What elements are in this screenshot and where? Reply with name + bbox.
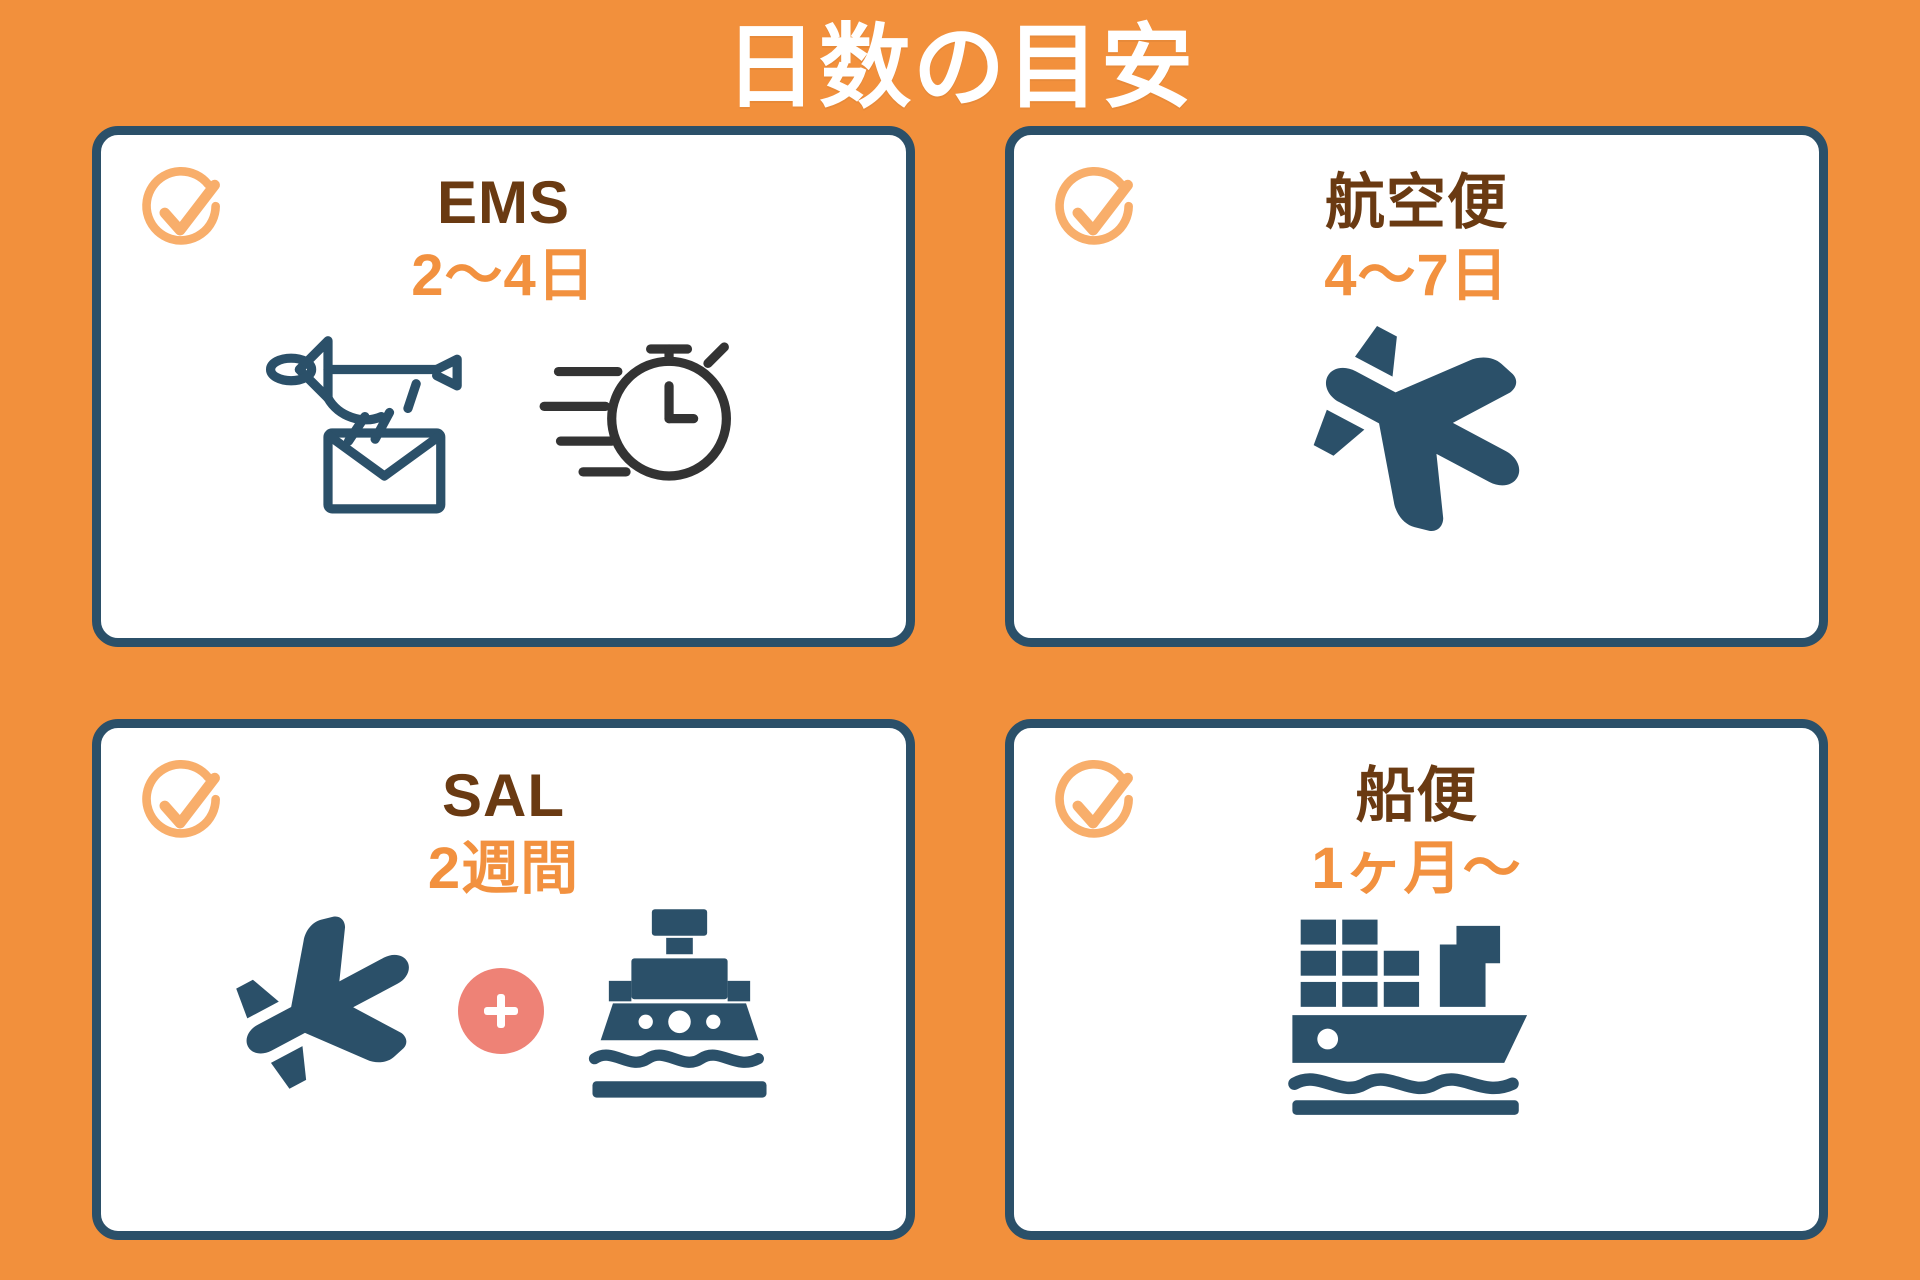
check-circle-icon — [1048, 163, 1144, 259]
airplane-solid-icon — [1292, 314, 1542, 544]
airplane-mail-line-icon — [254, 310, 484, 520]
infographic-page: 日数の目安 EMS 2〜4日 — [0, 0, 1920, 1280]
check-circle-icon — [1048, 756, 1144, 852]
cards-grid: EMS 2〜4日 — [0, 112, 1920, 1280]
stopwatch-speed-icon — [538, 320, 753, 510]
check-circle-icon — [135, 163, 231, 259]
check-circle-icon — [135, 756, 231, 852]
card-airmail[interactable]: 航空便 4〜7日 — [1005, 126, 1828, 647]
plus-badge-icon — [458, 968, 544, 1054]
card-illustration — [101, 310, 906, 520]
page-title: 日数の目安 — [0, 0, 1920, 112]
card-illustration — [1014, 907, 1819, 1120]
card-illustration — [1014, 314, 1819, 544]
container-ship-icon — [1282, 907, 1552, 1120]
ship-solid-icon — [572, 901, 787, 1121]
card-sal[interactable]: SAL 2週間 — [92, 719, 915, 1240]
airplane-solid-icon — [220, 913, 430, 1108]
card-seamail[interactable]: 船便 1ヶ月〜 — [1005, 719, 1828, 1240]
card-ems[interactable]: EMS 2〜4日 — [92, 126, 915, 647]
card-illustration — [101, 901, 906, 1121]
